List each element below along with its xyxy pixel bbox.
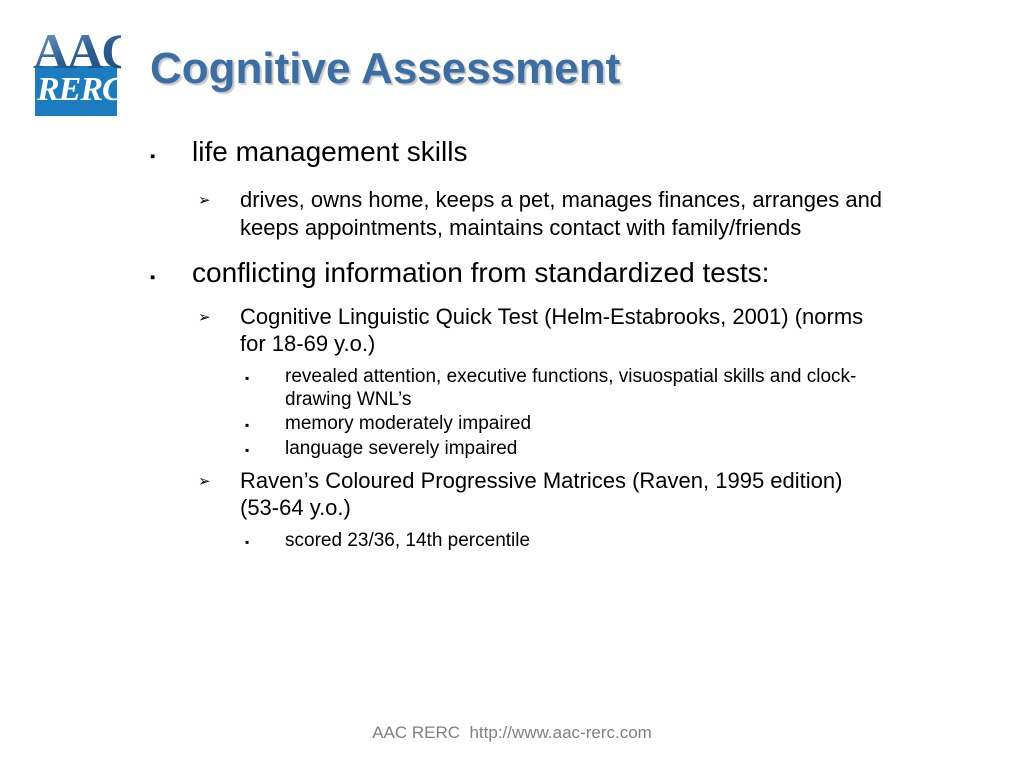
list-item: ➢ Cognitive Linguistic Quick Test (Helm-… bbox=[198, 303, 1024, 357]
arrowhead-bullet-icon: ➢ bbox=[198, 186, 240, 208]
logo-rerc-text: RERC bbox=[37, 68, 117, 112]
square-bullet-icon: ▪ bbox=[245, 529, 285, 548]
spacer bbox=[0, 243, 1024, 257]
list-item: ▪ memory moderately impaired bbox=[245, 412, 1024, 435]
slide-body: ▪ life management skills ➢ drives, owns … bbox=[0, 136, 1024, 553]
slide-footer: AAC RERC http://www.aac-rerc.com bbox=[0, 723, 1024, 743]
list-item-label: scored 23/36, 14th percentile bbox=[285, 529, 915, 552]
list-item: ▪ language severely impaired bbox=[245, 437, 1024, 460]
list-item-label: conflicting information from standardize… bbox=[192, 257, 832, 289]
spacer bbox=[0, 293, 1024, 303]
square-bullet-icon: ▪ bbox=[245, 412, 285, 431]
list-item: ➢ Raven’s Coloured Progressive Matrices … bbox=[198, 467, 1024, 521]
list-item: ➢ drives, owns home, keeps a pet, manage… bbox=[198, 186, 1024, 240]
square-bullet-icon: ▪ bbox=[150, 136, 192, 164]
list-item: ▪ revealed attention, executive function… bbox=[245, 365, 1024, 411]
square-bullet-icon: ▪ bbox=[150, 257, 192, 285]
square-bullet-icon: ▪ bbox=[245, 365, 285, 384]
arrowhead-bullet-icon: ➢ bbox=[198, 467, 240, 489]
list-item-label: Raven’s Coloured Progressive Matrices (R… bbox=[240, 467, 885, 521]
list-item-label: memory moderately impaired bbox=[285, 412, 915, 435]
list-item-label: Cognitive Linguistic Quick Test (Helm-Es… bbox=[240, 303, 885, 357]
list-item-label: drives, owns home, keeps a pet, manages … bbox=[240, 186, 885, 240]
list-item-label: life management skills bbox=[192, 136, 832, 168]
page-title: Cognitive Assessment bbox=[150, 44, 620, 94]
list-item-label: revealed attention, executive functions,… bbox=[285, 365, 915, 411]
spacer bbox=[0, 172, 1024, 186]
aac-rerc-logo: AAC RERC bbox=[33, 24, 121, 116]
list-item: ▪ scored 23/36, 14th percentile bbox=[245, 529, 1024, 552]
square-bullet-icon: ▪ bbox=[245, 437, 285, 456]
list-item-label: language severely impaired bbox=[285, 437, 915, 460]
list-item: ▪ life management skills bbox=[150, 136, 1024, 168]
arrowhead-bullet-icon: ➢ bbox=[198, 303, 240, 325]
list-item: ▪ conflicting information from standardi… bbox=[150, 257, 1024, 289]
